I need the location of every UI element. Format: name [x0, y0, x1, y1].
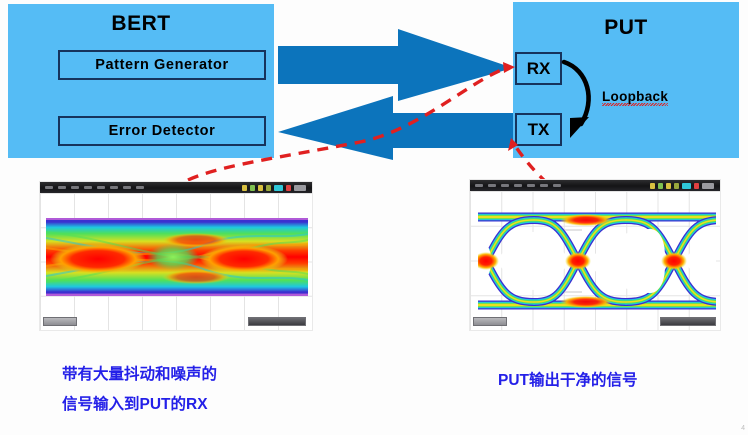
rx-label: RX: [527, 59, 551, 79]
caption-noisy-signal: 带有大量抖动和噪声的 信号输入到PUT的RX: [62, 360, 217, 420]
toolbar-yellow2-icon[interactable]: [258, 185, 263, 191]
arrow-put-to-bert: [278, 96, 513, 160]
toolbar-green-icon[interactable]: [658, 183, 663, 189]
toolbar-tick-icon[interactable]: [110, 186, 118, 189]
toolbar-tick-icon[interactable]: [123, 186, 131, 189]
toolbar-cyan-icon[interactable]: [682, 183, 691, 189]
toolbar-tick-icon[interactable]: [540, 184, 548, 187]
toolbar-tick-icon[interactable]: [136, 186, 144, 189]
tx-port-block: TX: [515, 113, 562, 146]
toolbar-tick-icon[interactable]: [97, 186, 105, 189]
scope-right-toolbar[interactable]: [470, 180, 720, 191]
caption-clean-line1: PUT输出干净的信号: [498, 366, 638, 396]
toolbar-gray-icon[interactable]: [294, 185, 306, 191]
eye-diagram-noisy: [46, 218, 308, 296]
toolbar-tick-icon[interactable]: [71, 186, 79, 189]
toolbar-tick-icon[interactable]: [501, 184, 509, 187]
toolbar-tick-icon[interactable]: [553, 184, 561, 187]
toolbar-tick-icon[interactable]: [527, 184, 535, 187]
toolbar-tick-icon[interactable]: [45, 186, 53, 189]
toolbar-gray-icon[interactable]: [702, 183, 714, 189]
scope-right-status-chip-a: [473, 317, 507, 326]
bert-panel-title: BERT: [8, 12, 274, 36]
eye-diagram-clean: [478, 208, 716, 314]
scope-left-status-chip-b: [248, 317, 306, 326]
toolbar-olive-icon[interactable]: [266, 185, 271, 191]
toolbar-tick-icon[interactable]: [488, 184, 496, 187]
scope-screenshot-noisy: [40, 182, 312, 330]
rx-port-block: RX: [515, 52, 562, 85]
toolbar-yellow-icon[interactable]: [650, 183, 655, 189]
scope-left-status-chip-a: [43, 317, 77, 326]
error-detector-label: Error Detector: [109, 123, 216, 139]
put-panel-title: PUT: [513, 16, 739, 40]
toolbar-green-icon[interactable]: [250, 185, 255, 191]
toolbar-red-icon[interactable]: [286, 185, 291, 191]
caption-clean-signal: PUT输出干净的信号: [498, 366, 638, 396]
error-detector-block: Error Detector: [58, 116, 266, 146]
toolbar-olive-icon[interactable]: [674, 183, 679, 189]
pattern-generator-label: Pattern Generator: [95, 57, 229, 73]
loopback-label: Loopback: [602, 89, 668, 106]
toolbar-tick-icon[interactable]: [58, 186, 66, 189]
toolbar-yellow-icon[interactable]: [242, 185, 247, 191]
toolbar-red-icon[interactable]: [694, 183, 699, 189]
toolbar-tick-icon[interactable]: [84, 186, 92, 189]
toolbar-tick-icon[interactable]: [514, 184, 522, 187]
arrow-bert-to-put: [278, 29, 513, 101]
pattern-generator-block: Pattern Generator: [58, 50, 266, 80]
caption-noisy-line2: 信号输入到PUT的RX: [62, 390, 217, 420]
scope-left-toolbar[interactable]: [40, 182, 312, 193]
slide-corner-mark: 4: [741, 425, 745, 432]
toolbar-tick-icon[interactable]: [475, 184, 483, 187]
toolbar-cyan-icon[interactable]: [274, 185, 283, 191]
scope-right-status-chip-b: [660, 317, 716, 326]
caption-noisy-line1: 带有大量抖动和噪声的: [62, 360, 217, 390]
toolbar-yellow2-icon[interactable]: [666, 183, 671, 189]
tx-label: TX: [528, 120, 550, 140]
scope-screenshot-clean: [470, 180, 720, 330]
